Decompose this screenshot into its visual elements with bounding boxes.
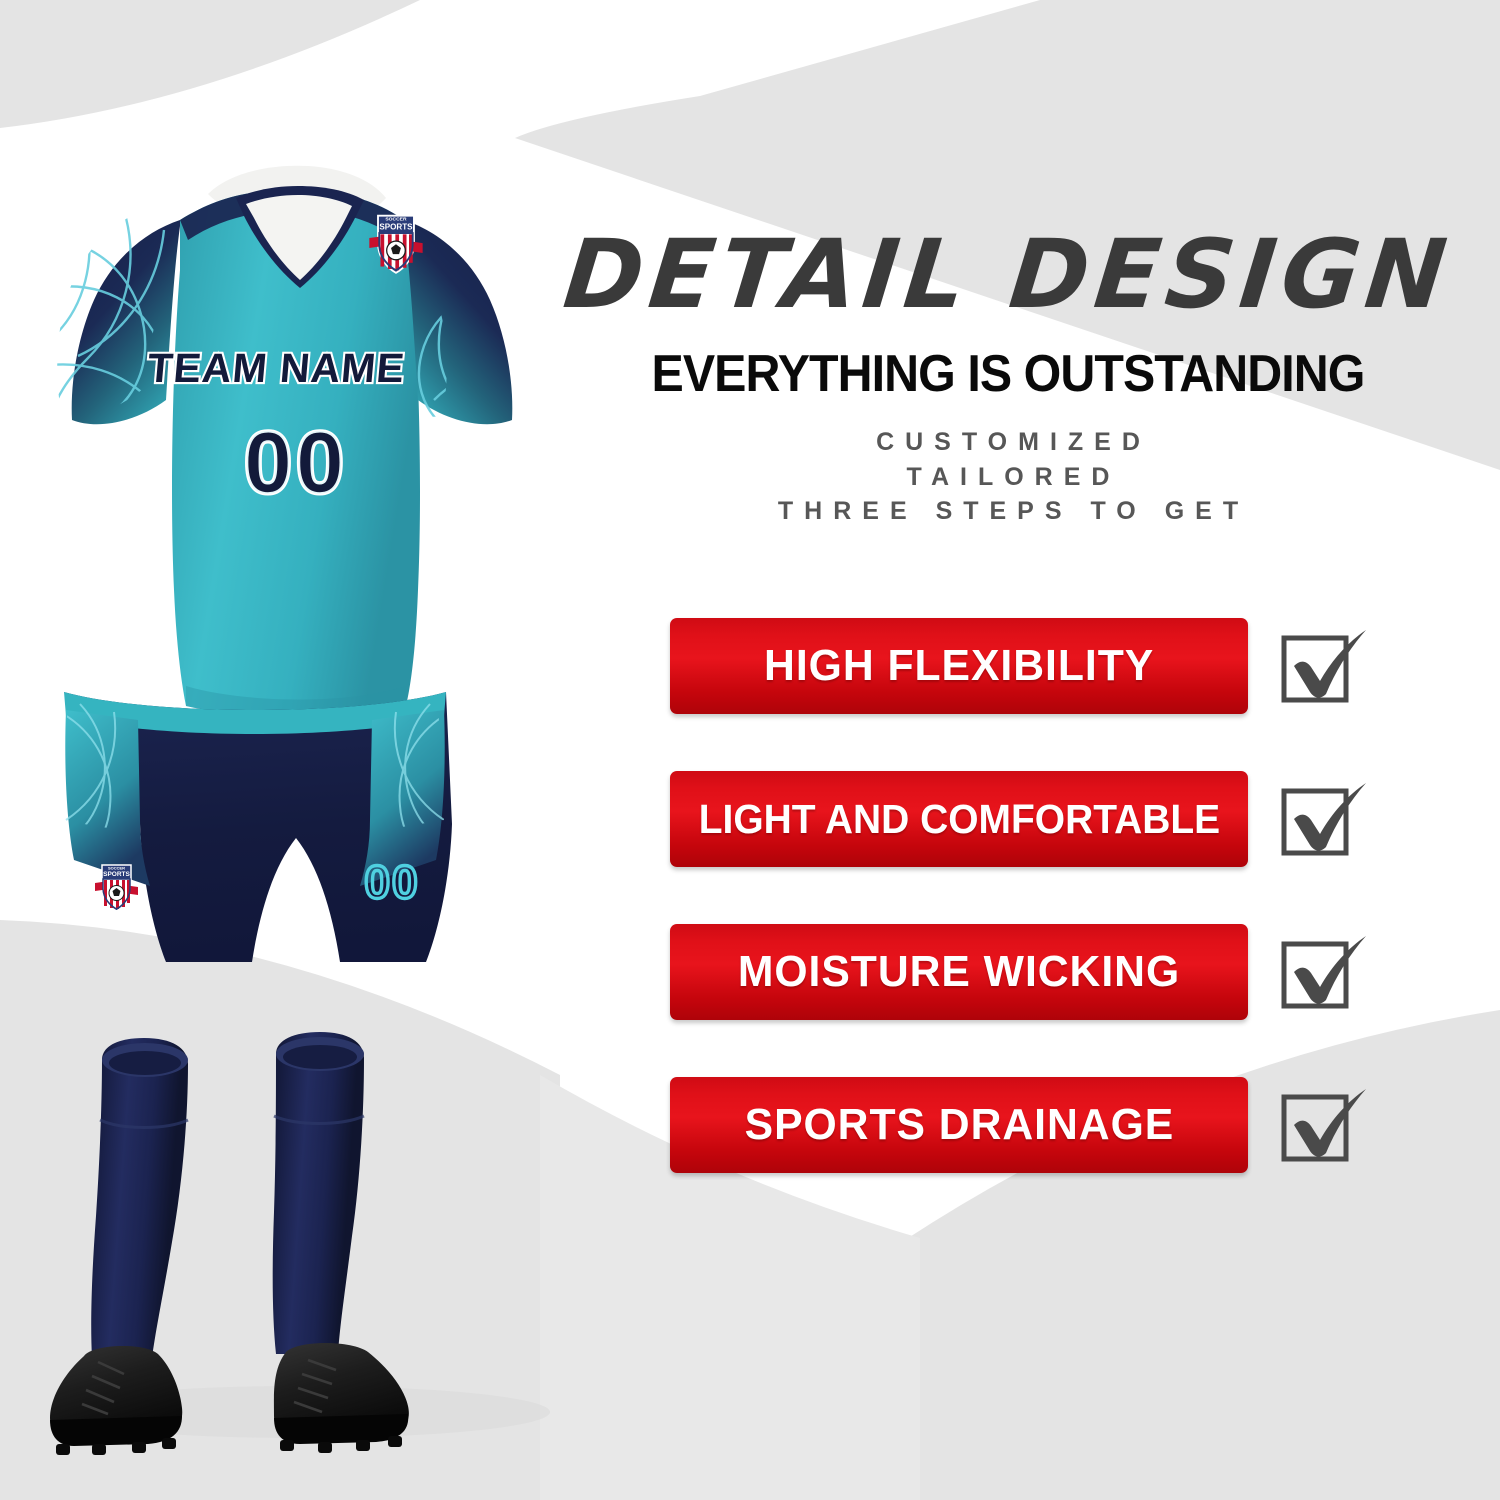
shorts-number: 00 [364,856,419,908]
sock-left [91,1038,188,1358]
feature-label: HIGH FLEXIBILITY [764,641,1154,691]
feature-label: SPORTS DRAINAGE [744,1100,1174,1150]
feature-label: LIGHT AND COMFORTABLE [698,796,1219,843]
tagline-1: CUSTOMIZED [548,425,1468,460]
feature-row-light-and-comfortable: LIGHT AND COMFORTABLE [548,765,1500,918]
sock-right [273,1032,364,1354]
page-subtitle: EVERYTHING IS OUTSTANDING [580,348,1436,400]
crest-main-text: SPORTS [379,222,413,231]
jersey-number-inline: 00 [244,415,348,511]
feature-banner-sports-drainage[interactable]: SPORTS DRAINAGE [670,1077,1248,1173]
jersey-sleeve-left [72,220,180,424]
checkbox-checked-icon[interactable] [1270,767,1374,871]
checkbox-checked-icon[interactable] [1270,614,1374,718]
checkbox-checked-icon[interactable] [1270,920,1374,1024]
feature-row-moisture-wicking: MOISTURE WICKING [548,918,1500,1071]
checkbox-checked-icon[interactable] [1270,1073,1374,1177]
info-panel: DETAIL DESIGN EVERYTHING IS OUTSTANDING … [548,0,1500,1500]
crest-main-text: SPORTS [103,871,130,878]
soccer-uniform-illustration: TEAM NAME 00 00 [40,120,560,1480]
shorts: SOCCER SPORTS 00 [40,692,470,962]
socks [91,1032,364,1358]
feature-row-sports-drainage: SPORTS DRAINAGE [548,1071,1500,1224]
feature-banner-high-flexibility[interactable]: HIGH FLEXIBILITY [670,618,1248,714]
page-title: DETAIL DESIGN [543,228,1473,323]
feature-row-high-flexibility: HIGH FLEXIBILITY [548,612,1500,765]
crest-top-text: SOCCER [108,866,125,871]
tagline-group: CUSTOMIZED TAILORED THREE STEPS TO GET [548,425,1468,529]
product-mockup: TEAM NAME 00 00 [0,0,560,1500]
jersey-team-name: TEAM NAME [146,345,407,391]
feature-label: MOISTURE WICKING [738,947,1180,997]
cleats [50,1343,409,1455]
shorts-crest: SOCCER SPORTS [95,865,138,911]
feature-list: HIGH FLEXIBILITY LIGHT AND COMFORTABLE [548,612,1500,1224]
tagline-2: TAILORED [548,460,1468,495]
feature-banner-light-and-comfortable[interactable]: LIGHT AND COMFORTABLE [670,771,1248,867]
shorts-side-panel-left [65,710,150,886]
jersey: TEAM NAME 00 00 [42,166,542,717]
product-detail-graphic: TEAM NAME 00 00 [0,0,1500,1500]
feature-banner-moisture-wicking[interactable]: MOISTURE WICKING [670,924,1248,1020]
tagline-3: THREE STEPS TO GET [548,494,1468,529]
